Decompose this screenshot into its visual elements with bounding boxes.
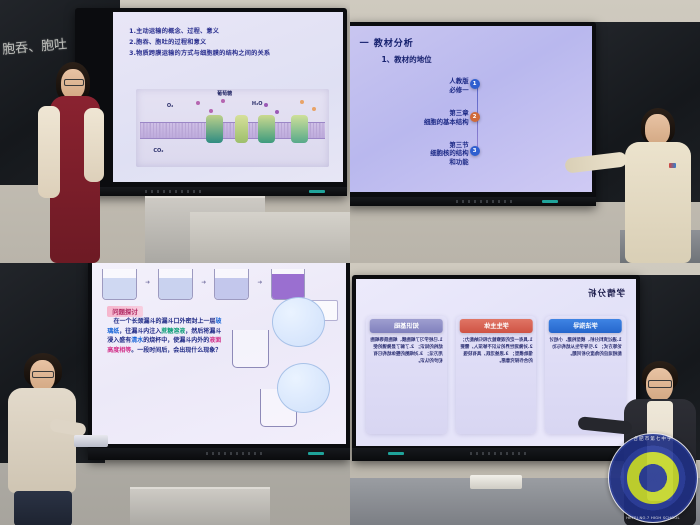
column-body: 1.已经学习了细胞膜、细胞质等细胞结构的知识； 2.了解了显微镜的使用方法； 3… xyxy=(370,337,443,366)
panel-bottom-left: ➜ ➜ ➜ 问题探讨 在一个长颈漏斗的漏斗口外密封上一层玻璃纸，往漏斗内注入蔗糖… xyxy=(0,263,350,525)
front-desk xyxy=(190,212,350,263)
column-body: 1.通过资料分析、模型构建、小组讨论等方式； 2.引导学生从结构与功能相适应的角… xyxy=(549,337,622,359)
board-bezel xyxy=(75,187,347,196)
membrane-transport-figure: 葡萄糖 O₂ CO₂ H₂O xyxy=(136,89,329,167)
column-header: 学法指导 xyxy=(549,319,622,333)
analysis-column: 知识基础 1.已经学习了细胞膜、细胞质等细胞结构的知识； 2.了解了显微镜的使用… xyxy=(366,316,447,435)
school-logo-watermark: 合肥市第七中学 X HEFEI NO.7 HIGH SCHOOL xyxy=(608,433,698,523)
panel-bottom-right: 学情分析 知识基础 1.已经学习了细胞膜、细胞质等细胞结构的知识； 2.了解了显… xyxy=(350,263,700,525)
transport-protein-3 xyxy=(258,115,275,143)
molecule-dot xyxy=(300,100,304,104)
presenter-figure xyxy=(613,108,699,263)
arrow-icon: ➜ xyxy=(257,279,262,286)
timeline-label-3: 第三节细胞核的结构和功能 xyxy=(383,141,469,167)
transport-protein-4 xyxy=(291,115,308,143)
smart-board: 一 教材分析 1、教材的地位 1 2 3 人教版必修一 第三章细胞的基本结构 第… xyxy=(350,22,596,206)
transport-protein-2 xyxy=(235,115,249,143)
molecule-dot xyxy=(275,110,279,114)
smart-board: 1.主动运输的概念、过程、意义 2.胞吞、胞吐的过程和意义 3.物质跨膜运输的方… xyxy=(75,8,347,196)
arrow-icon: ➜ xyxy=(145,279,150,286)
slide-surface: 1.主动运输的概念、过程、意义 2.胞吞、胞吐的过程和意义 3.物质跨膜运输的方… xyxy=(113,12,343,182)
molecule-dot xyxy=(209,109,213,113)
bezel-status-led xyxy=(309,190,325,193)
beaker-stage-4 xyxy=(271,269,306,300)
molecule-dot xyxy=(196,101,200,105)
slide-subtitle: 1、教材的地位 xyxy=(381,54,431,65)
label-o2: O₂ xyxy=(167,103,173,109)
timeline-node-3: 3 xyxy=(470,146,480,156)
bezel-speaker-grill xyxy=(470,452,530,455)
timeline-label-2: 第三章细胞的基本结构 xyxy=(383,109,469,126)
molecule-dot xyxy=(312,107,316,111)
presenter-figure xyxy=(36,62,114,263)
glasses xyxy=(648,380,672,388)
label-co2: CO₂ xyxy=(153,148,163,154)
slide-surface: 一 教材分析 1、教材的地位 1 2 3 人教版必修一 第三章细胞的基本结构 第… xyxy=(350,26,592,192)
bezel-status-led xyxy=(388,452,404,455)
molecule-dot xyxy=(264,103,268,107)
bezel-status-led xyxy=(542,200,558,203)
panel-top-left: 胞吞、胞吐 1.主动运输的概念、过程、意义 2.胞吞、胞吐的过程和意义 3.物质… xyxy=(0,0,350,263)
arrow-icon: ➜ xyxy=(201,279,206,286)
timeline-label-1: 人教版必修一 xyxy=(407,77,469,94)
left-arm xyxy=(38,106,60,198)
bullet-2: 2.胞吞、胞吐的过程和意义 xyxy=(129,38,331,49)
molecule-closeup-top xyxy=(272,297,325,347)
panel-top-right: 一 教材分析 1、教材的地位 1 2 3 人教版必修一 第三章细胞的基本结构 第… xyxy=(350,0,700,263)
bezel-speaker-grill xyxy=(456,200,516,203)
slide-surface: ➜ ➜ ➜ 问题探讨 在一个长颈漏斗的漏斗口外密封上一层玻璃纸，往漏斗内注入蔗糖… xyxy=(92,263,346,444)
beaker-stage-2 xyxy=(158,269,193,300)
tablet-device xyxy=(74,435,108,447)
logo-monogram: X xyxy=(627,452,678,503)
label-h2o: H₂O xyxy=(252,101,263,107)
column-header: 知识基础 xyxy=(370,319,443,333)
torso xyxy=(8,388,76,493)
board-bezel xyxy=(352,448,640,461)
torso xyxy=(625,142,691,263)
open-book xyxy=(470,475,522,489)
bezel-status-led xyxy=(308,452,324,455)
lectern-cabinet xyxy=(130,487,270,525)
head xyxy=(645,114,670,145)
label-glucose: 葡萄糖 xyxy=(217,90,232,97)
board-bezel xyxy=(88,448,350,460)
timeline-node-1: 1 xyxy=(470,79,480,89)
presenter-figure xyxy=(2,353,84,525)
logo-school-name-cn: 合肥市第七中学 xyxy=(609,436,697,442)
column-body: 1.具有一定的观察能力和归纳能力； 2.对微观世界的认识不够深入，需要借助模型；… xyxy=(460,337,533,366)
beaker-stage-1 xyxy=(102,269,137,300)
uniform-badge xyxy=(669,163,676,168)
glasses xyxy=(32,371,54,378)
photo-collage: 胞吞、胞吐 1.主动运输的概念、过程、意义 2.胞吞、胞吐的过程和意义 3.物质… xyxy=(0,0,700,525)
beaker-illustration xyxy=(232,330,270,368)
timeline-node-2: 2 xyxy=(470,112,480,122)
column-header: 学生主体 xyxy=(460,319,533,333)
slide-title: 一 教材分析 xyxy=(360,36,414,49)
board-bezel xyxy=(350,197,596,206)
molecule-dot xyxy=(221,99,225,103)
glasses xyxy=(64,79,84,86)
bullet-3: 3.物质跨膜运输的方式与细胞膜的结构之间的关系 xyxy=(129,49,331,60)
molecule-closeup-bottom xyxy=(277,363,330,413)
logo-school-name-en: HEFEI NO.7 HIGH SCHOOL xyxy=(609,516,697,520)
analysis-column: 学生主体 1.具有一定的观察能力和归纳能力； 2.对微观世界的认识不够深入，需要… xyxy=(456,316,537,435)
bezel-speaker-grill xyxy=(145,190,205,193)
slide-bullet-list: 1.主动运输的概念、过程、意义 2.胞吞、胞吐的过程和意义 3.物质跨膜运输的方… xyxy=(129,27,331,60)
slide-body-text: 在一个长颈漏斗的漏斗口外密封上一层玻璃纸，往漏斗内注入蔗糖溶液，然后将漏斗浸入盛… xyxy=(107,317,224,356)
beaker-sequence: ➜ ➜ ➜ xyxy=(102,264,305,301)
slide-tag: 问题探讨 xyxy=(107,306,143,317)
bezel-speaker-grill xyxy=(206,452,266,455)
transport-protein-1 xyxy=(206,115,223,143)
slide-title: 学情分析 xyxy=(587,287,625,299)
lower-body xyxy=(14,491,72,525)
bullet-1: 1.主动运输的概念、过程、意义 xyxy=(129,27,331,38)
smart-board: ➜ ➜ ➜ 问题探讨 在一个长颈漏斗的漏斗口外密封上一层玻璃纸，往漏斗内注入蔗糖… xyxy=(88,263,350,460)
beaker-stage-3 xyxy=(214,269,249,300)
smart-board: 学情分析 知识基础 1.已经学习了细胞膜、细胞质等细胞结构的知识； 2.了解了显… xyxy=(352,275,640,461)
right-arm xyxy=(84,108,104,182)
